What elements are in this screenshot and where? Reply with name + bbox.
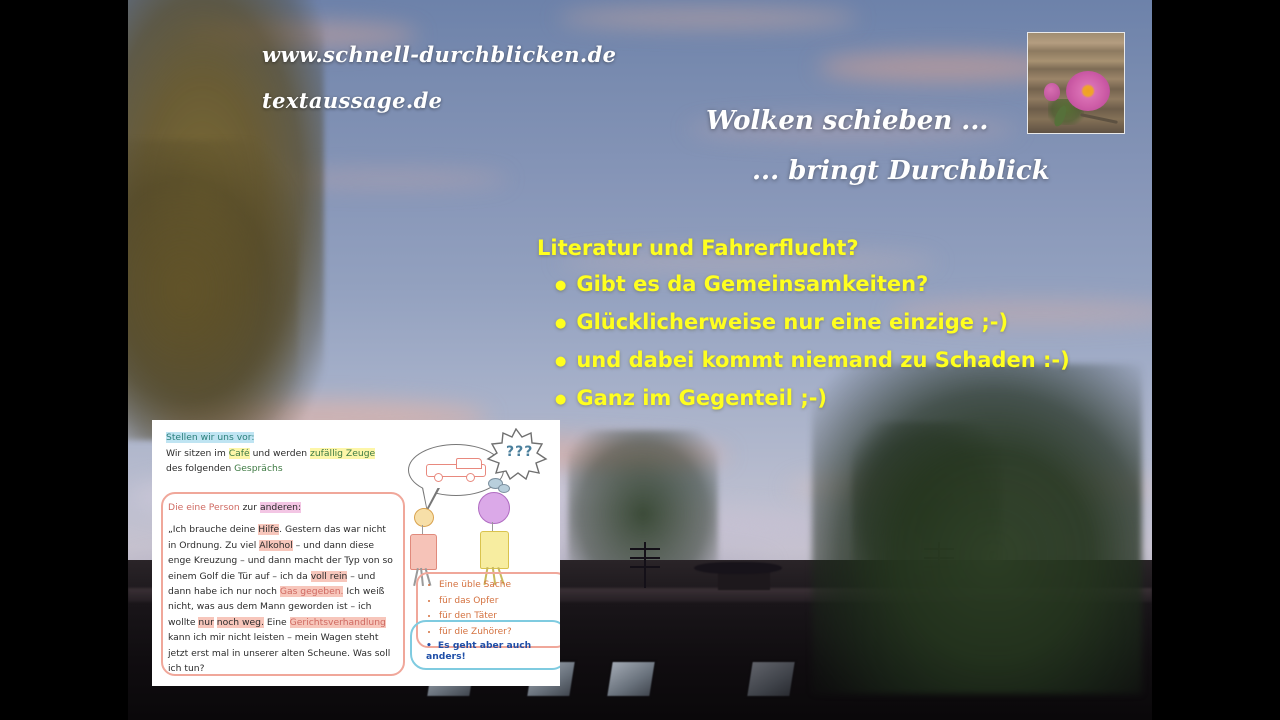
- bullet-item-3: und dabei kommt niemand zu Schaden :-): [537, 342, 1070, 380]
- hl-vollrein: voll rein: [311, 571, 348, 582]
- flower-bloom: [1066, 71, 1110, 111]
- intro-text: Stellen wir uns vor: Wir sitzen im Café …: [166, 430, 394, 477]
- quote-body: „Ich brauche deine Hilfe. Gestern das wa…: [168, 522, 396, 676]
- cloud-wisp: [558, 8, 858, 28]
- url-secondary: textaussage.de: [262, 88, 442, 113]
- antenna-bar: [630, 557, 660, 559]
- antenna-bar: [630, 548, 660, 550]
- conclusion-block: Eine üble Sache für das Opfer für den Tä…: [410, 572, 560, 672]
- skylight: [605, 660, 657, 698]
- hl-gasgegeben: Gas gegeben.: [280, 586, 344, 597]
- satellite-dish-icon: [694, 562, 782, 574]
- intro-line-3a: des folgenden: [166, 463, 234, 474]
- headline-line-2: ... bringt Durchblick: [706, 146, 1050, 196]
- antenna-bar: [630, 566, 660, 568]
- consequence-item-3: für den Täter: [439, 609, 512, 625]
- tree-left-lower: [128, 140, 298, 440]
- slide-headline: Wolken schieben ... ... bringt Durchblic…: [706, 96, 1050, 196]
- quote-text: Die eine Person zur anderen: „Ich brauch…: [168, 500, 396, 676]
- speaker-label-b: zur: [240, 502, 260, 513]
- flower-bud: [1044, 83, 1060, 101]
- speaker-label-c: anderen:: [260, 502, 301, 513]
- intro-line-2b: und werden: [250, 448, 310, 459]
- hl-alkohol: Alkohol: [259, 540, 292, 551]
- antenna: [644, 542, 646, 588]
- website-urls: www.schnell-durchblicken.de textaussage.…: [262, 32, 616, 124]
- intro-line-1: Stellen wir uns vor:: [166, 432, 254, 443]
- flower-thumbnail: [1027, 32, 1125, 134]
- consequence-item-4: für die Zuhörer?: [439, 625, 512, 641]
- bullet-item-1: Gibt es da Gemeinsamkeiten?: [537, 266, 1070, 304]
- intro-conversation: Gesprächs: [234, 463, 282, 474]
- hl-gericht: Gerichtsverhandlung: [290, 617, 386, 628]
- bullet-heading: Literatur und Fahrerflucht?: [537, 230, 1070, 266]
- bullet-item-4: Ganz im Gegenteil ;-): [537, 380, 1070, 418]
- question-marks: ???: [506, 444, 533, 460]
- pillarbox-left: [0, 0, 128, 720]
- slide-canvas: www.schnell-durchblicken.de textaussage.…: [0, 0, 1280, 720]
- pillarbox-right: [1152, 0, 1280, 720]
- hl-hilfe: Hilfe: [258, 524, 279, 535]
- twig: [1080, 113, 1118, 124]
- consequences-list: Eine üble Sache für das Opfer für den Tä…: [426, 578, 512, 640]
- intro-line-2a: Wir sitzen im: [166, 448, 229, 459]
- consequence-item-1: Eine üble Sache: [439, 578, 512, 594]
- thought-dot: [498, 484, 510, 493]
- intro-cafe: Café: [229, 448, 250, 459]
- url-primary: www.schnell-durchblicken.de: [262, 42, 616, 67]
- bullet-item-2: Glücklicherweise nur eine einzige ;-): [537, 304, 1070, 342]
- speech-bubble-tail-fill: [423, 487, 438, 508]
- intro-witness: zufällig Zeuge: [310, 448, 375, 459]
- car-icon: [426, 458, 484, 480]
- cartoon-illustration: ???: [400, 426, 556, 566]
- skylight: [745, 660, 797, 698]
- speaker-label-a: Die eine Person: [168, 502, 240, 513]
- worksheet-panel: Stellen wir uns vor: Wir sitzen im Café …: [152, 420, 560, 686]
- hl-nur: nur: [198, 617, 213, 628]
- conclusion-text: Es geht aber auch anders!: [426, 640, 560, 662]
- headline-line-1: Wolken schieben ...: [706, 106, 988, 136]
- bullet-list: Literatur und Fahrerflucht? Gibt es da G…: [537, 230, 1070, 418]
- hl-nochweg: noch weg.: [217, 617, 264, 628]
- consequence-item-2: für das Opfer: [439, 594, 512, 610]
